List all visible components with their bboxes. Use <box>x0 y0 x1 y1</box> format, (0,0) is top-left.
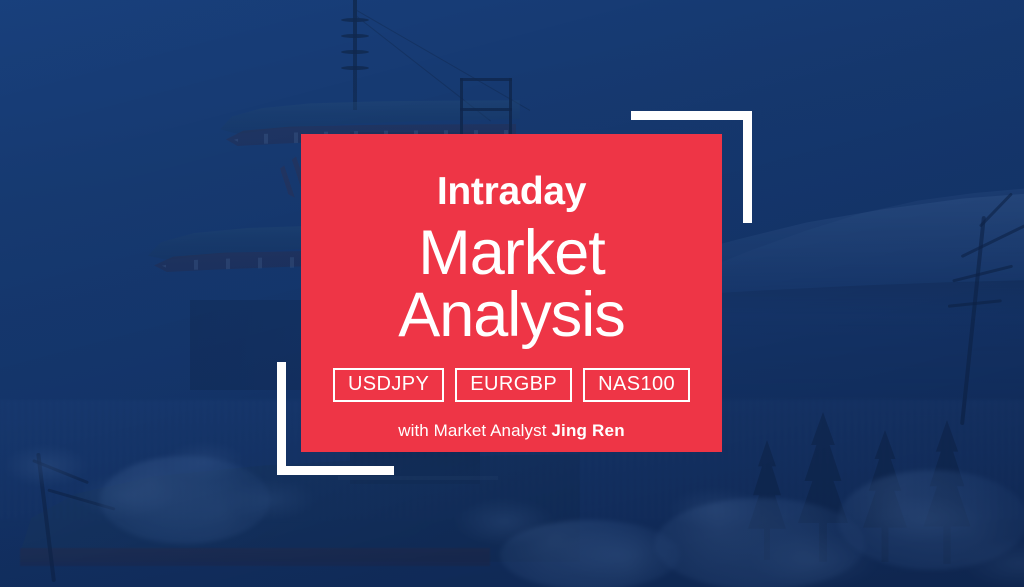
byline-prefix: with Market Analyst <box>398 421 546 440</box>
page-title-line-1: Market <box>398 222 625 284</box>
corner-bracket-top-right <box>631 111 752 120</box>
byline: with Market Analyst Jing Ren <box>398 421 625 441</box>
title-card: Intraday Market Analysis USDJPY EURGBP N… <box>301 134 722 452</box>
eyebrow-text: Intraday <box>437 172 586 211</box>
analyst-name: Jing Ren <box>551 421 624 440</box>
ticker-badge-list: USDJPY EURGBP NAS100 <box>333 368 690 402</box>
page-title-line-2: Analysis <box>398 284 625 346</box>
page-title: Market Analysis <box>398 222 625 347</box>
ticker-badge-usdjpy[interactable]: USDJPY <box>333 368 444 402</box>
ticker-badge-nas100[interactable]: NAS100 <box>583 368 690 402</box>
ticker-badge-eurgbp[interactable]: EURGBP <box>455 368 572 402</box>
corner-bracket-top-right <box>743 111 752 223</box>
promo-banner: Intraday Market Analysis USDJPY EURGBP N… <box>0 0 1024 587</box>
corner-bracket-bottom-left <box>277 362 286 475</box>
corner-bracket-bottom-left <box>277 466 394 475</box>
